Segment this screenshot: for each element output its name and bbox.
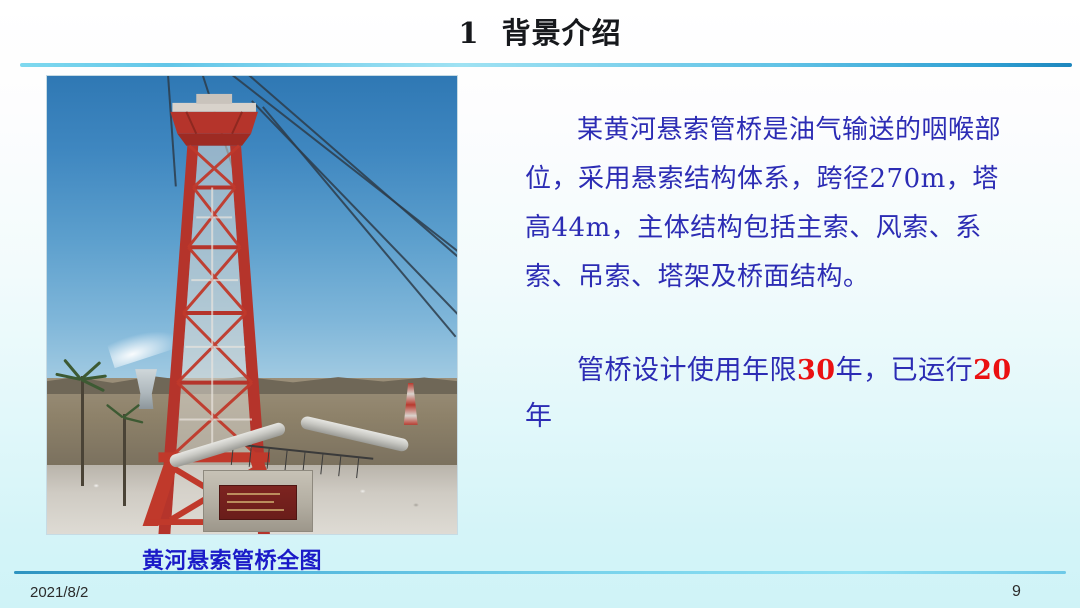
- design-life-value: 30: [797, 355, 836, 386]
- footer-divider-rule: [14, 571, 1066, 574]
- photo-content: [47, 76, 457, 534]
- footer-date: 2021/8/2: [30, 584, 88, 601]
- palm-trunk: [123, 414, 126, 506]
- service-life-suffix: 年: [525, 401, 553, 432]
- presentation-slide: 1 背景介绍: [0, 0, 1080, 608]
- concrete-foundation: [203, 470, 313, 532]
- paragraph-description: 某黄河悬索管桥是油气输送的咽喉部位，采用悬索结构体系，跨径270m，塔高44m，…: [525, 106, 1025, 302]
- slide-title-bar: 1 背景介绍: [0, 0, 1080, 62]
- palm-trunk: [81, 376, 84, 486]
- body-text-block: 某黄河悬索管桥是油气输送的咽喉部位，采用悬索结构体系，跨径270m，塔高44m，…: [525, 106, 1025, 302]
- paragraph-service-life: 管桥设计使用年限30年，已运行20年: [525, 348, 1025, 440]
- operated-years-value: 20: [973, 355, 1012, 386]
- title-divider-rule: [20, 63, 1072, 67]
- memorial-plaque: [219, 485, 297, 520]
- bridge-photo: [46, 75, 458, 535]
- service-life-prefix: 管桥设计使用年限: [577, 355, 797, 386]
- page-title: 1 背景介绍: [458, 10, 621, 52]
- service-life-middle: 年，已运行: [836, 355, 974, 386]
- slide-page-number: 9: [1012, 583, 1021, 601]
